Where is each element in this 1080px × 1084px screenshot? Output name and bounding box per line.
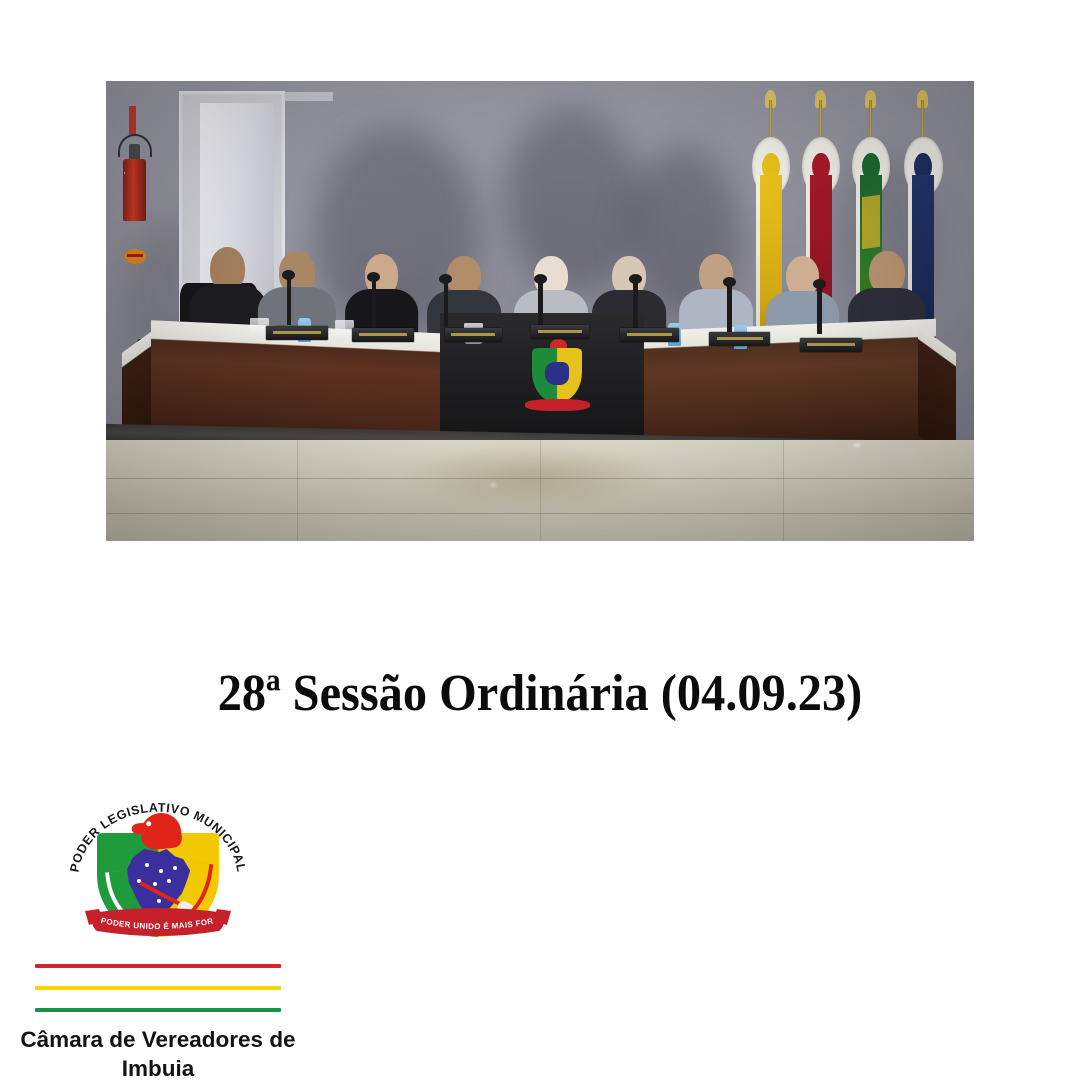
podium-coat-of-arms: [518, 334, 596, 421]
map-star: [173, 866, 177, 870]
podium-shield: [532, 348, 582, 402]
nameplate: [620, 328, 679, 342]
nameplate: [445, 328, 502, 342]
nameplate: [800, 338, 862, 352]
floor-tile-line: [297, 440, 298, 541]
floor-light-reflection: [852, 442, 862, 448]
podium-ribbon: [525, 399, 591, 411]
page-title: 28ª Sessão Ordinária (04.09.23): [38, 664, 1042, 723]
org-name-line-1: Câmara de Vereadores de: [8, 1026, 308, 1055]
nameplate: [352, 328, 414, 342]
microphone-stem: [372, 281, 377, 327]
rule-yellow: [35, 986, 281, 990]
nameplate: [531, 325, 588, 339]
photo-scene: [106, 81, 974, 541]
session-photo: [106, 81, 974, 541]
map-star: [157, 899, 161, 903]
rule-green: [35, 1008, 281, 1012]
council-logo: PODER LEGISLATIVO MUNICIPAL: [8, 795, 308, 1084]
microphone-stem: [538, 283, 543, 327]
microphone-stem: [817, 288, 822, 334]
flag-rules: [35, 964, 281, 1012]
crest-ribbon: O PODER UNIDO É MAIS FORTE: [81, 907, 235, 937]
org-name-line-2: Imbuia: [8, 1055, 308, 1084]
podium-brazil-map: [545, 362, 569, 385]
map-star: [167, 879, 171, 883]
map-star: [153, 882, 157, 886]
nameplate: [266, 326, 328, 340]
coat-of-arms: PODER LEGISLATIVO MUNICIPAL: [63, 795, 253, 950]
microphone-stem: [287, 279, 292, 325]
podium-floor-reflection: [401, 444, 661, 508]
nameplate: [709, 332, 770, 346]
map-star: [145, 863, 149, 867]
map-star: [159, 869, 163, 873]
floor-tile-line: [783, 440, 784, 541]
microphone-stem: [727, 286, 732, 332]
rule-red: [35, 964, 281, 968]
microphone-stem: [633, 283, 638, 329]
organization-name: Câmara de Vereadores de Imbuia: [8, 1026, 308, 1084]
microphone-stem: [444, 283, 449, 327]
